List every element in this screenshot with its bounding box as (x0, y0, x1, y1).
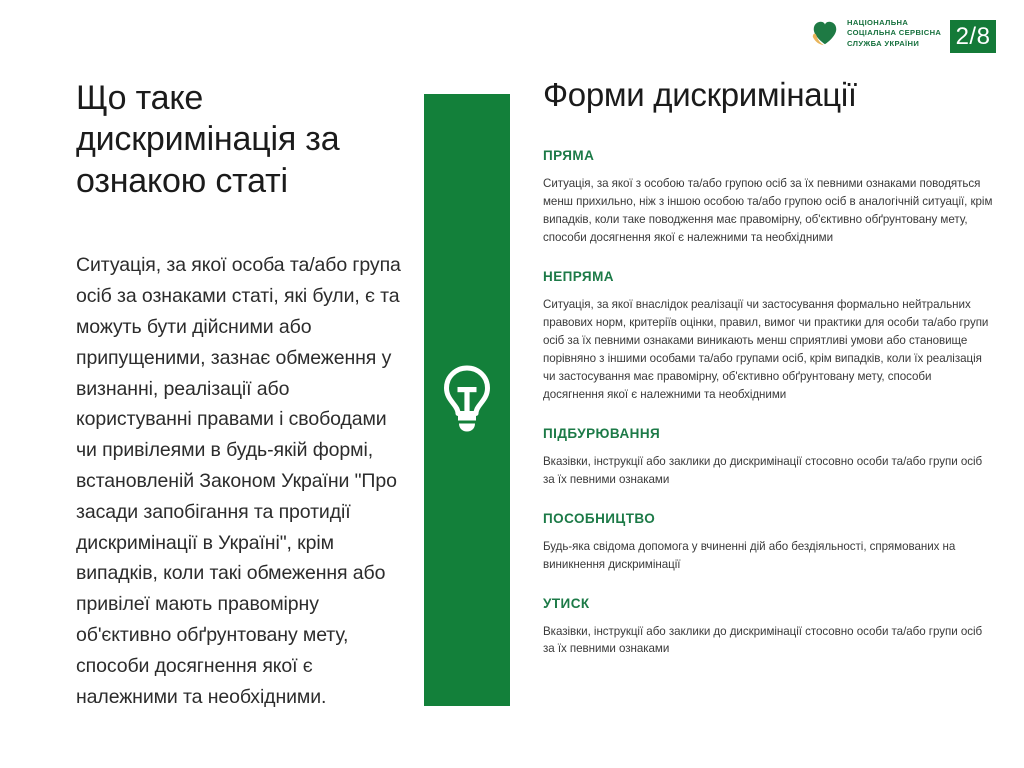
section-heading: ПОСОБНИЦТВО (543, 511, 993, 526)
section-body: Вказівки, інструкції або заклики до диск… (543, 453, 993, 489)
section-body: Будь-яка свідома допомога у вчиненні дій… (543, 538, 993, 574)
section-heading: ПІДБУРЮВАННЯ (543, 426, 993, 441)
section-heading: НЕПРЯМА (543, 269, 993, 284)
section-heading: ПРЯМА (543, 148, 993, 163)
right-column: Форми дискримінації ПРЯМА Ситуація, за я… (543, 76, 993, 658)
left-page-title: Що таке дискримінація за ознакою статі (76, 78, 406, 202)
slide-root: НАЦІОНАЛЬНА СОЦІАЛЬНА СЕРВІСНА СЛУЖБА УК… (0, 0, 1024, 768)
section-heading: УТИСК (543, 596, 993, 611)
section-utysk: УТИСК Вказівки, інструкції або заклики д… (543, 596, 993, 659)
section-body: Ситуація, за якої з особою та/або групою… (543, 175, 993, 247)
brand-line-2: СОЦІАЛЬНА СЕРВІСНА (847, 28, 941, 37)
section-pidburyuvannya: ПІДБУРЮВАННЯ Вказівки, інструкції або за… (543, 426, 993, 489)
brand-line-1: НАЦІОНАЛЬНА (847, 18, 941, 27)
heart-logo-icon (810, 18, 840, 48)
brand-line-3: СЛУЖБА УКРАЇНИ (847, 39, 941, 48)
brand-text: НАЦІОНАЛЬНА СОЦІАЛЬНА СЕРВІСНА СЛУЖБА УК… (847, 18, 941, 48)
lightbulb-wrapper (424, 365, 510, 435)
center-green-bar (424, 94, 510, 706)
page-number-badge: 2/8 (950, 20, 996, 53)
left-definition-text: Ситуація, за якої особа та/або група осі… (76, 250, 406, 712)
section-body: Ситуація, за якої внаслідок реалізації ч… (543, 296, 993, 404)
right-page-title: Форми дискримінації (543, 76, 993, 114)
section-pryama: ПРЯМА Ситуація, за якої з особою та/або … (543, 148, 993, 247)
left-column: Що таке дискримінація за ознакою статі С… (76, 78, 406, 712)
section-posobnytstvo: ПОСОБНИЦТВО Будь-яка свідома допомога у … (543, 511, 993, 574)
lightbulb-icon (440, 365, 494, 435)
brand-logo: НАЦІОНАЛЬНА СОЦІАЛЬНА СЕРВІСНА СЛУЖБА УК… (810, 18, 941, 48)
section-nepryama: НЕПРЯМА Ситуація, за якої внаслідок реал… (543, 269, 993, 404)
section-body: Вказівки, інструкції або заклики до диск… (543, 623, 993, 659)
